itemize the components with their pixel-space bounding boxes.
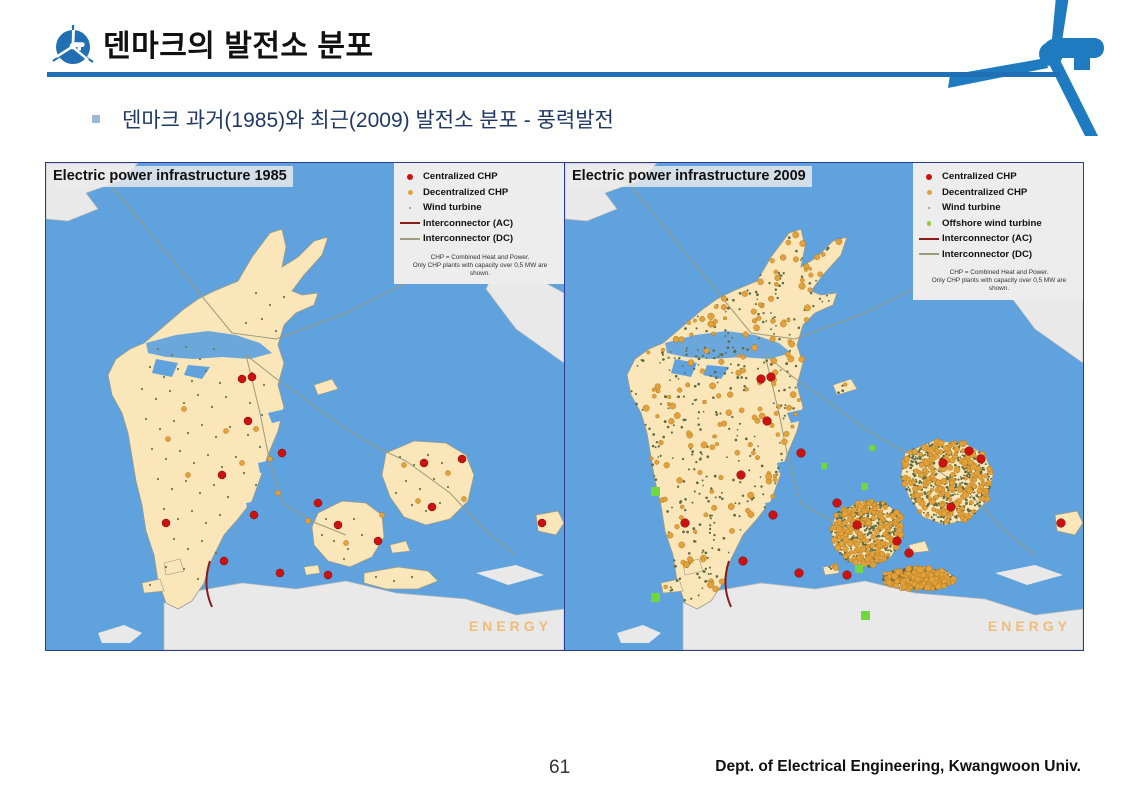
orange-dot-icon — [400, 190, 420, 195]
olive-line-icon — [919, 253, 939, 255]
legend-note-line2: Only CHP plants with capacity over 0,5 M… — [402, 262, 558, 278]
tiny-dot-icon — [919, 207, 939, 210]
map-title-2009: Electric power infrastructure 2009 — [568, 166, 812, 187]
legend-1985: Centralized CHP Decentralized CHP Wind t… — [394, 163, 564, 284]
orange-dot-icon — [919, 190, 939, 195]
red-line-icon — [919, 238, 939, 240]
energy-watermark-text: ENERGY — [988, 618, 1071, 634]
red-dot-icon — [919, 174, 939, 180]
legend-item: Wind turbine — [400, 200, 560, 216]
bullet-row: 덴마크 과거(1985)와 최근(2009) 발전소 분포 - 풍력발전 — [92, 104, 614, 134]
energy-watermark: ENERGY — [469, 618, 552, 634]
footer-department: Dept. of Electrical Engineering, Kwangwo… — [715, 758, 1081, 776]
red-line-icon — [400, 222, 420, 224]
legend-item: Centralized CHP — [919, 169, 1079, 185]
square-bullet-icon — [92, 115, 100, 123]
legend-label: Wind turbine — [939, 202, 1001, 213]
header-divider — [47, 72, 1060, 77]
energy-watermark: ENERGY — [988, 618, 1071, 634]
legend-note: CHP = Combined Heat and Power. Only CHP … — [400, 254, 560, 279]
legend-label: Offshore wind turbine — [939, 218, 1042, 229]
green-dot-icon — [919, 221, 939, 226]
legend-item: Offshore wind turbine — [919, 216, 1079, 232]
map-panel-1985[interactable]: Electric power infrastructure 1985 Centr… — [45, 162, 565, 651]
legend-item: Interconnector (DC) — [400, 231, 560, 247]
legend-note: CHP = Combined Heat and Power. Only CHP … — [919, 269, 1079, 294]
legend-label: Interconnector (DC) — [420, 233, 513, 244]
legend-2009: Centralized CHP Decentralized CHP Wind t… — [913, 163, 1083, 300]
bullet-text: 덴마크 과거(1985)와 최근(2009) 발전소 분포 - 풍력발전 — [122, 104, 614, 134]
legend-label: Decentralized CHP — [420, 187, 508, 198]
legend-note-line2: Only CHP plants with capacity over 0,5 M… — [921, 277, 1077, 293]
legend-note-line1: CHP = Combined Heat and Power. — [402, 254, 558, 262]
legend-label: Decentralized CHP — [939, 187, 1027, 198]
legend-note-line1: CHP = Combined Heat and Power. — [921, 269, 1077, 277]
legend-item: Interconnector (AC) — [919, 231, 1079, 247]
legend-label: Interconnector (DC) — [939, 249, 1032, 260]
wind-turbine-decor-icon — [948, 0, 1123, 136]
energy-watermark-text: ENERGY — [469, 618, 552, 634]
legend-item: Centralized CHP — [400, 169, 560, 185]
map-panel-2009[interactable]: Electric power infrastructure 2009 Centr… — [564, 162, 1084, 651]
legend-item: Decentralized CHP — [400, 185, 560, 201]
legend-item: Interconnector (DC) — [919, 247, 1079, 263]
legend-label: Centralized CHP — [420, 171, 498, 182]
legend-item: Wind turbine — [919, 200, 1079, 216]
legend-label: Interconnector (AC) — [420, 218, 513, 229]
olive-line-icon — [400, 238, 420, 240]
page-title: 덴마크의 발전소 분포 — [103, 21, 374, 65]
wind-turbine-logo-icon — [48, 21, 98, 71]
map-canvas-1985: Electric power infrastructure 1985 Centr… — [46, 163, 564, 650]
page-number: 61 — [549, 757, 570, 779]
slide-header: 덴마크의 발전소 분포 — [0, 0, 1123, 95]
legend-item: Decentralized CHP — [919, 185, 1079, 201]
map-canvas-2009: Electric power infrastructure 2009 Centr… — [565, 163, 1083, 650]
legend-label: Centralized CHP — [939, 171, 1017, 182]
legend-label: Interconnector (AC) — [939, 233, 1032, 244]
map-title-1985: Electric power infrastructure 1985 — [49, 166, 293, 187]
legend-item: Interconnector (AC) — [400, 216, 560, 232]
red-dot-icon — [400, 174, 420, 180]
legend-label: Wind turbine — [420, 202, 482, 213]
tiny-dot-icon — [400, 207, 420, 210]
